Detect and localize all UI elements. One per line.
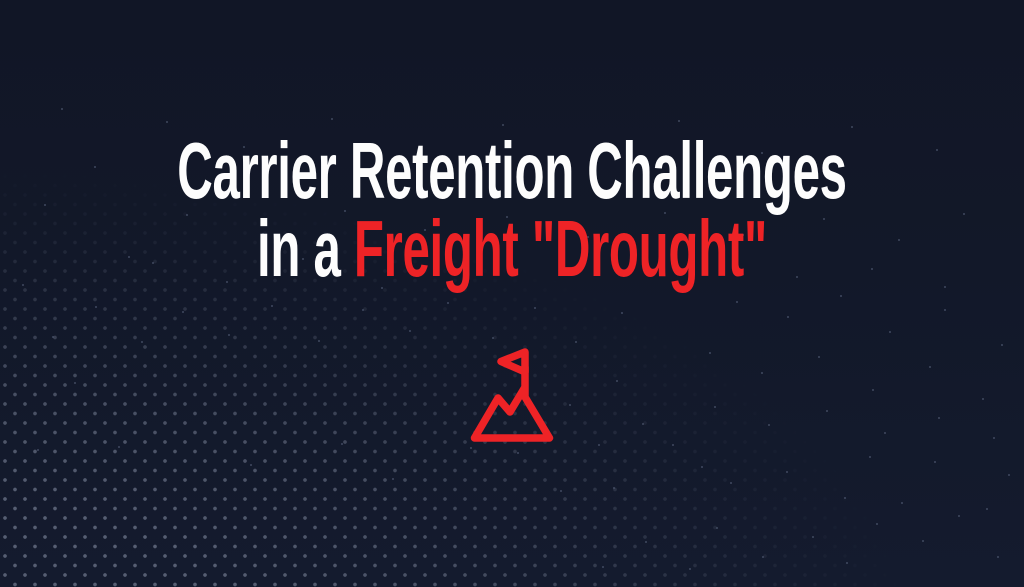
title-line-2-accent: Freight "Drought" — [354, 204, 767, 293]
mountain-flag-icon — [468, 345, 556, 445]
slide-content: Carrier Retention Challenges in a Freigh… — [0, 0, 1024, 587]
title-line-2-lead: in a — [257, 204, 354, 293]
title-slide: Carrier Retention Challenges in a Freigh… — [0, 0, 1024, 587]
title-line-1: Carrier Retention Challenges — [14, 132, 1010, 210]
logo — [0, 345, 1024, 445]
title-line-2: in a Freight "Drought" — [14, 210, 1010, 288]
page-title: Carrier Retention Challenges in a Freigh… — [14, 132, 1010, 288]
